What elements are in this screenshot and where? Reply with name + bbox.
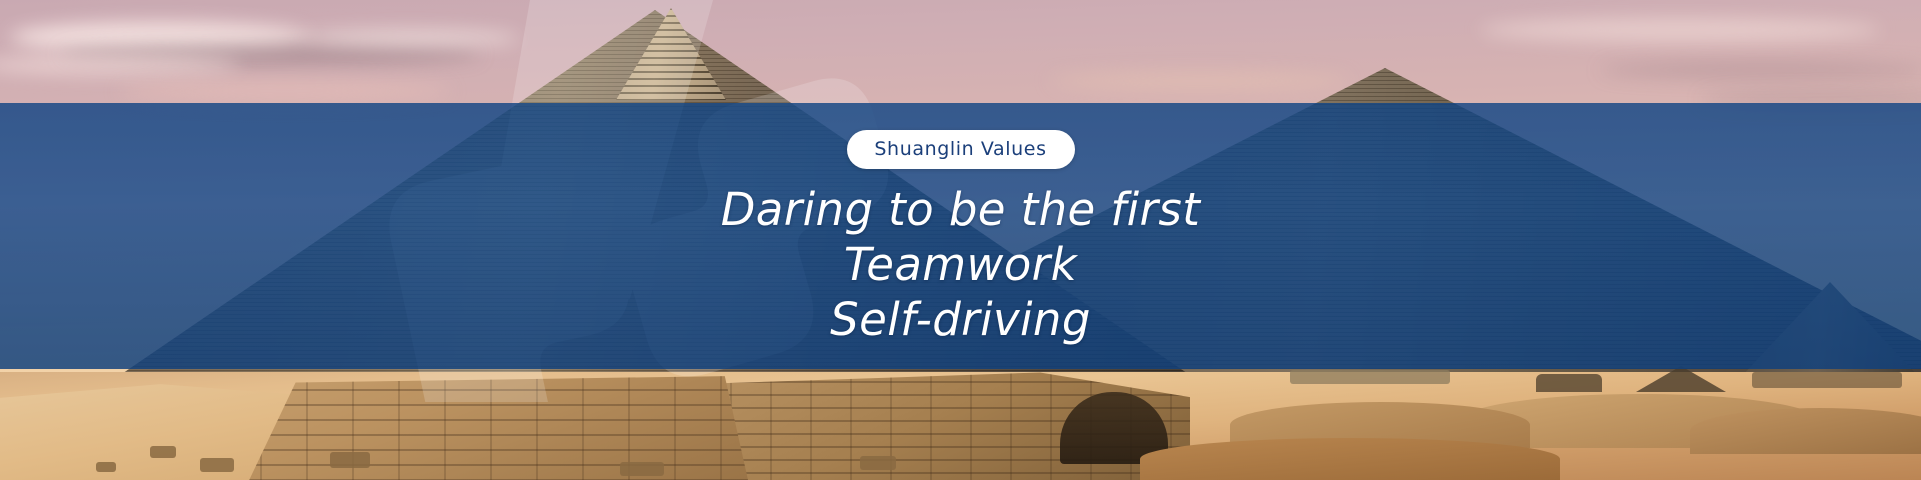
rubble-rock (200, 458, 234, 472)
banner-content: Shuanglin Values Daring to be the first … (0, 103, 1921, 369)
headline: Daring to be the first Teamwork Self-dri… (721, 183, 1201, 348)
values-badge[interactable]: Shuanglin Values (847, 130, 1075, 169)
rubble-rock (150, 446, 176, 458)
rubble-rock (330, 452, 370, 468)
distant-structure (1290, 370, 1450, 384)
distant-structure (1752, 372, 1902, 388)
cloud (300, 30, 520, 46)
cloud (1050, 72, 1350, 90)
cloud (0, 56, 240, 74)
cloud (1600, 62, 1921, 78)
headline-line-2: Teamwork (721, 238, 1201, 293)
excavation-ridge (1140, 438, 1560, 480)
rubble-rock (96, 462, 116, 472)
values-badge-label: Shuanglin Values (874, 140, 1046, 159)
rubble-rock (620, 462, 664, 476)
rubble-rock (860, 456, 896, 470)
distant-structure (1536, 374, 1602, 392)
cloud (120, 80, 450, 102)
cloud (1480, 18, 1880, 42)
hero-banner: Shuanglin Values Daring to be the first … (0, 0, 1921, 480)
headline-line-1: Daring to be the first (721, 183, 1201, 238)
headline-line-3: Self-driving (721, 293, 1201, 348)
excavation-ridge (1690, 408, 1921, 454)
